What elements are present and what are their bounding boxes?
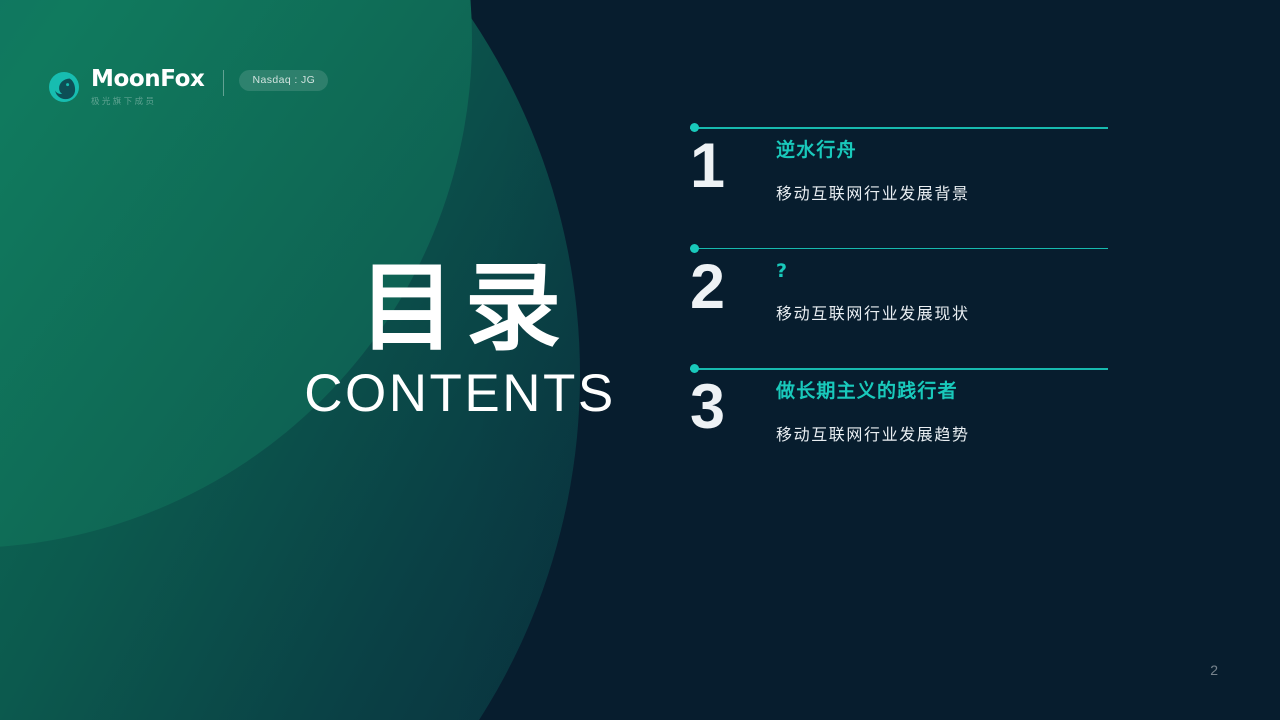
stock-ticker-badge: Nasdaq : JG	[239, 70, 328, 91]
brand-subtitle: 极光旗下成员	[91, 97, 156, 106]
brand-logo-lockup: MoonFox 极光旗下成员 Nasdaq : JG	[48, 68, 328, 106]
toc-title: 逆水行舟	[776, 139, 1108, 162]
page-title: 目录 CONTENTS	[300, 258, 620, 423]
toc-bullet-dot-icon	[690, 123, 699, 132]
toc-bullet-dot-icon	[690, 244, 699, 253]
toc-rule	[690, 368, 1108, 370]
table-of-contents: 1 逆水行舟 移动互联网行业发展背景 2 ? 移动互联网行业发展现状	[690, 122, 1108, 446]
moonfox-logo-icon	[48, 71, 80, 103]
toc-number: 2	[690, 258, 776, 318]
brand-wordmark: MoonFox 极光旗下成员	[91, 68, 204, 106]
toc-description: 移动互联网行业发展趋势	[776, 425, 1108, 446]
toc-item-1[interactable]: 1 逆水行舟 移动互联网行业发展背景	[690, 122, 1108, 205]
toc-number: 3	[690, 378, 776, 438]
toc-description: 移动互联网行业发展背景	[776, 184, 1108, 205]
toc-description: 移动互联网行业发展现状	[776, 304, 1108, 325]
toc-title: ?	[776, 260, 1108, 283]
page-title-cn: 目录	[300, 258, 620, 359]
toc-title: 做长期主义的践行者	[776, 380, 1108, 403]
toc-item-3[interactable]: 3 做长期主义的践行者 移动互联网行业发展趋势	[690, 363, 1108, 446]
slide-canvas: MoonFox 极光旗下成员 Nasdaq : JG 目录 CONTENTS 1…	[0, 0, 1280, 720]
toc-number: 1	[690, 137, 776, 197]
logo-divider	[223, 70, 224, 96]
page-number: 2	[1210, 662, 1218, 678]
toc-rule	[690, 127, 1108, 129]
toc-item-2[interactable]: 2 ? 移动互联网行业发展现状	[690, 243, 1108, 326]
brand-name: MoonFox	[91, 68, 204, 91]
page-title-en: CONTENTS	[300, 365, 620, 423]
toc-rule	[690, 248, 1108, 250]
